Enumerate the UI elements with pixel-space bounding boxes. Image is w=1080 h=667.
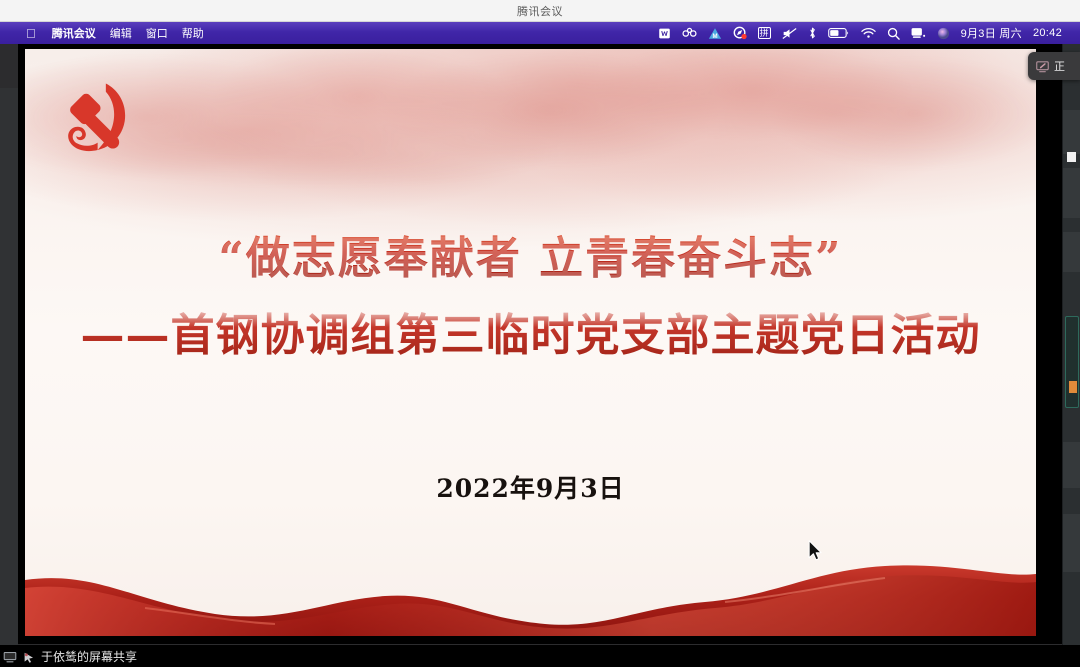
side-panel-tile[interactable] — [1063, 168, 1080, 218]
red-silk-ribbon-decoration — [25, 544, 1036, 636]
monitor-icon — [3, 650, 17, 662]
meeting-side-panel[interactable] — [1062, 44, 1080, 667]
slide-cloud-texture — [25, 49, 1036, 219]
slide-subtitle: ——首钢协调组第三临时党支部主题党日活动 — [25, 308, 1036, 363]
cloud-sync-icon[interactable] — [682, 26, 697, 40]
battery-icon[interactable] — [828, 26, 850, 40]
wps-icon[interactable] — [658, 26, 671, 40]
slide-main-title: “做志愿奉献者 立青春奋斗志” — [25, 231, 1036, 286]
side-panel-tile[interactable] — [1063, 110, 1080, 154]
menu-edit[interactable]: 编辑 — [110, 25, 132, 41]
side-panel-highlight — [1067, 152, 1076, 162]
menu-app-name[interactable]: 腾讯会议 — [52, 25, 96, 41]
participant-video-tile[interactable] — [1065, 316, 1079, 408]
sharing-status-label: 正 — [1054, 58, 1065, 74]
menu-window[interactable]: 窗口 — [146, 25, 168, 41]
side-panel-tile[interactable] — [1063, 514, 1080, 572]
side-panel-tile[interactable] — [1063, 232, 1080, 272]
menubar-date[interactable]: 9月3日 周六 — [961, 25, 1022, 41]
slide-title-block: “做志愿奉献者 立青春奋斗志” ——首钢协调组第三临时党支部主题党日活动 — [25, 231, 1036, 363]
screen-root: 腾讯会议  腾讯会议 编辑 窗口 帮助 M — [0, 0, 1080, 667]
control-center-icon[interactable] — [911, 26, 926, 40]
screen-share-icon — [1036, 60, 1049, 73]
bluetooth-icon[interactable] — [808, 26, 817, 40]
siri-icon[interactable] — [937, 26, 950, 40]
menubar-time[interactable]: 20:42 — [1033, 27, 1062, 39]
slide-date: 2022年9月3日 — [25, 469, 1036, 505]
pinyin-input-icon[interactable]: 拼 — [758, 26, 771, 40]
side-panel-tile[interactable] — [1063, 442, 1080, 488]
screen-share-statusbar: 于依鸶的屏幕共享 — [0, 645, 1080, 667]
menubar-left-group:  腾讯会议 编辑 窗口 帮助 — [26, 25, 204, 41]
pinyin-input-label: 拼 — [758, 27, 771, 39]
ccp-hammer-sickle-emblem — [55, 77, 137, 159]
volume-muted-icon[interactable] — [782, 26, 797, 40]
sharing-status-badge[interactable]: 正 — [1028, 52, 1080, 80]
window-titlebar: 腾讯会议 — [0, 0, 1080, 22]
share-owner-label: 于依鸶的屏幕共享 — [41, 648, 137, 665]
shared-screen-stage: “做志愿奉献者 立青春奋斗志” ——首钢协调组第三临时党支部主题党日活动 202… — [18, 44, 1062, 644]
menubar-status-group: M 拼 — [658, 25, 1072, 41]
macos-menubar:  腾讯会议 编辑 窗口 帮助 M 拼 — [0, 22, 1080, 44]
spotlight-search-icon[interactable] — [887, 26, 900, 40]
wechat-compass-icon[interactable] — [733, 26, 747, 40]
menu-help[interactable]: 帮助 — [182, 25, 204, 41]
metaso-m-icon[interactable]: M — [708, 26, 722, 40]
wifi-icon[interactable] — [861, 26, 876, 40]
apple-logo-icon[interactable]:  — [26, 27, 36, 40]
participant-avatar — [1069, 381, 1077, 393]
meeting-window-frame: “做志愿奉献者 立青春奋斗志” ——首钢协调组第三临时党支部主题党日活动 202… — [0, 44, 1080, 667]
left-gutter — [0, 88, 18, 667]
mouse-cursor — [808, 540, 822, 560]
presentation-slide: “做志愿奉献者 立青春奋斗志” ——首钢协调组第三临时党支部主题党日活动 202… — [25, 49, 1036, 636]
share-cursor-icon — [22, 650, 36, 662]
svg-text:M: M — [712, 32, 717, 39]
window-title: 腾讯会议 — [517, 3, 563, 19]
